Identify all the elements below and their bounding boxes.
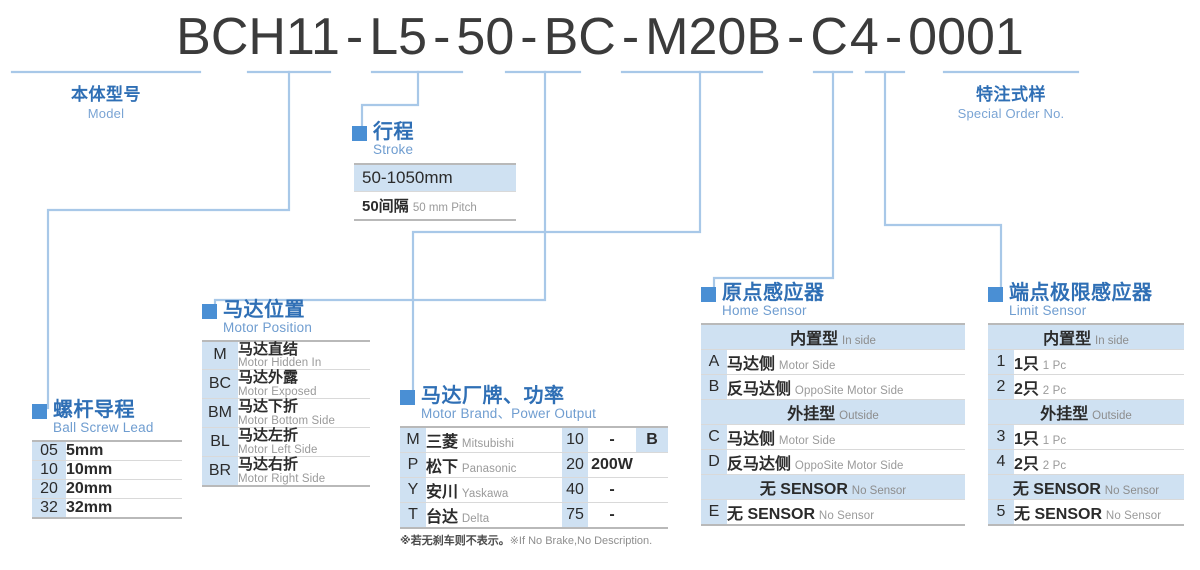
code-dash-3: - [515, 7, 542, 67]
group-motor-brand-title-cn: 马达厂牌、功率 [421, 386, 596, 406]
home-sensor-band-cell: 外挂型 Outside [701, 399, 965, 424]
motor-brand-en: Delta [462, 513, 489, 525]
motor-brake-cell [636, 502, 668, 528]
home-sensor-desc-cell: 无 SENSOR No Sensor [727, 499, 965, 525]
motor-position-desc-cell: 马达外露Motor Exposed [238, 370, 370, 399]
code-part-model: BCH11 [175, 7, 341, 67]
table-row: BR马达右折Motor Right Side [202, 456, 370, 485]
home-sensor-cn: 无 SENSOR [727, 506, 815, 523]
limit-sensor-code-cell: 3 [988, 424, 1014, 449]
motor-brand-en: Panasonic [462, 463, 517, 475]
group-home-sensor: 原点感应器 Home Sensor 内置型 In sideA马达侧 Motor … [701, 283, 965, 526]
code-dash-1: - [341, 7, 368, 67]
table-band-row: 外挂型 Outside [988, 399, 1184, 424]
home-sensor-desc-cell: 反马达侧 OppoSite Motor Side [727, 449, 965, 474]
lead-value-text: 20mm [66, 480, 112, 497]
motor-brake-cell [636, 452, 668, 477]
table-row: 055mm [32, 441, 182, 461]
home-sensor-band-en: Outside [839, 410, 879, 422]
group-model-title-cn: 本体型号 [12, 80, 200, 105]
code-part-limit-sensor: 4 [849, 7, 880, 67]
home-sensor-cn: 马达侧 [727, 431, 775, 448]
table-row: BM马达下折Motor Bottom Side [202, 399, 370, 428]
group-motor-position-title-en: Motor Position [223, 321, 312, 335]
limit-sensor-code-cell: 2 [988, 374, 1014, 399]
home-sensor-band-en: No Sensor [852, 485, 906, 497]
limit-sensor-desc-cell: 无 SENSOR No Sensor [1014, 499, 1184, 525]
table-row: D反马达侧 OppoSite Motor Side [701, 449, 965, 474]
motor-power-value-text: 200W [591, 456, 633, 473]
table-row: M马达直结Motor Hidden In [202, 341, 370, 370]
home-sensor-en: Motor Side [779, 435, 836, 447]
table-row: Y安川 Yaskawa40- [400, 477, 668, 502]
home-sensor-band-cn: 外挂型 [787, 406, 835, 423]
motor-brake-text [650, 481, 654, 498]
code-dash-6: - [880, 7, 907, 67]
motor-brand-en: Mitsubishi [462, 438, 514, 450]
table-row: E无 SENSOR No Sensor [701, 499, 965, 525]
motor-position-desc-cell: 马达右折Motor Right Side [238, 456, 370, 485]
stroke-pitch-cn: 50间隔 [362, 198, 409, 215]
limit-sensor-band-cn: 内置型 [1043, 331, 1091, 348]
home-sensor-table: 内置型 In sideA马达侧 Motor SideB反马达侧 OppoSite… [701, 323, 965, 526]
lead-code-cell: 10 [32, 460, 66, 479]
limit-sensor-cn: 无 SENSOR [1014, 506, 1102, 523]
home-sensor-band-en: In side [842, 335, 876, 347]
motor-position-en: Motor Exposed [238, 386, 370, 398]
motor-position-cn: 马达直结 [238, 342, 370, 358]
table-band-row: 内置型 In side [701, 324, 965, 350]
stroke-range-cell: 50-1050mm [354, 163, 516, 192]
ball-screw-lead-table: 055mm1010mm2020mm3232mm [32, 440, 182, 519]
table-row: M三菱 Mitsubishi10-B [400, 427, 668, 453]
home-sensor-cn: 反马达侧 [727, 456, 791, 473]
motor-position-cn: 马达下折 [238, 399, 370, 415]
table-row: 3232mm [32, 498, 182, 518]
group-home-sensor-title-en: Home Sensor [722, 304, 825, 318]
limit-sensor-cn: 1只 [1014, 431, 1039, 448]
limit-sensor-desc-cell: 2只 2 Pc [1014, 449, 1184, 474]
group-model: 本体型号 Model [12, 80, 200, 121]
motor-power-value-text: - [609, 506, 614, 523]
motor-power-value-text: - [609, 431, 614, 448]
limit-sensor-en: 1 Pc [1043, 360, 1066, 372]
table-band-row: 外挂型 Outside [701, 399, 965, 424]
motor-brand-power-table: M三菱 Mitsubishi10-BP松下 Panasonic20200W Y安… [400, 426, 668, 529]
home-sensor-code-cell: E [701, 499, 727, 525]
motor-brand-cn: 松下 [426, 459, 458, 476]
limit-sensor-cn: 2只 [1014, 381, 1039, 398]
bullet-square-icon [988, 287, 1003, 302]
table-row: 5无 SENSOR No Sensor [988, 499, 1184, 525]
motor-power-value-cell: - [588, 502, 636, 528]
limit-sensor-en: 2 Pc [1043, 460, 1066, 472]
motor-brand-name-cell: 松下 Panasonic [426, 452, 562, 477]
table-band-row: 无 SENSOR No Sensor [988, 474, 1184, 499]
lead-code-cell: 20 [32, 479, 66, 498]
motor-position-en: Motor Bottom Side [238, 415, 370, 427]
group-limit-sensor-title-cn: 端点极限感应器 [1009, 283, 1153, 303]
motor-power-value-cell: - [588, 427, 636, 453]
table-row: B反马达侧 OppoSite Motor Side [701, 374, 965, 399]
table-row: BL马达左折Motor Left Side [202, 427, 370, 456]
group-special-order: 特注式样 Special Order No. [944, 80, 1078, 121]
bullet-square-icon [202, 304, 217, 319]
code-part-motor-brand: M20B [644, 7, 782, 67]
motor-brake-text [650, 456, 654, 473]
motor-brand-note-en: ※If No Brake,No Description. [510, 535, 653, 547]
stroke-pitch-cell: 50间隔 50 mm Pitch [354, 192, 516, 221]
group-stroke-title-cn: 行程 [373, 122, 414, 142]
limit-sensor-en: 2 Pc [1043, 385, 1066, 397]
motor-brand-cn: 安川 [426, 484, 458, 501]
code-part-stroke: 50 [455, 7, 515, 67]
table-row: 2020mm [32, 479, 182, 498]
lead-value-text: 10mm [66, 461, 112, 478]
home-sensor-code-cell: A [701, 349, 727, 374]
stroke-pitch-en: 50 mm Pitch [413, 202, 477, 214]
home-sensor-en: No Sensor [819, 510, 874, 522]
lead-value-cell: 32mm [66, 498, 182, 518]
table-row: 42只 2 Pc [988, 449, 1184, 474]
home-sensor-en: OppoSite Motor Side [795, 385, 904, 397]
group-motor-position: 马达位置 Motor Position M马达直结Motor Hidden In… [202, 300, 370, 487]
limit-sensor-band-en: No Sensor [1105, 485, 1159, 497]
limit-sensor-cn: 2只 [1014, 456, 1039, 473]
motor-brand-code-cell: T [400, 502, 426, 528]
motor-brand-name-cell: 三菱 Mitsubishi [426, 427, 562, 453]
motor-brand-cn: 台达 [426, 509, 458, 526]
motor-position-cn: 马达右折 [238, 457, 370, 473]
motor-brand-note: ※若无刹车则不表示。※If No Brake,No Description. [400, 532, 668, 548]
lead-value-cell: 10mm [66, 460, 182, 479]
code-dash-5: - [782, 7, 809, 67]
group-model-title-en: Model [12, 106, 200, 121]
motor-position-code-cell: BM [202, 399, 238, 428]
group-motor-brand-power: 马达厂牌、功率 Motor Brand、Power Output M三菱 Mit… [400, 386, 668, 548]
home-sensor-cn: 反马达侧 [727, 381, 791, 398]
group-limit-sensor-title-en: Limit Sensor [1009, 304, 1153, 318]
limit-sensor-code-cell: 4 [988, 449, 1014, 474]
motor-brand-code-cell: P [400, 452, 426, 477]
table-row: T台达 Delta75- [400, 502, 668, 528]
motor-power-code-cell: 10 [562, 427, 588, 453]
limit-sensor-band-cn: 外挂型 [1040, 406, 1088, 423]
motor-position-desc-cell: 马达左折Motor Left Side [238, 427, 370, 456]
motor-position-table: M马达直结Motor Hidden InBC马达外露Motor ExposedB… [202, 340, 370, 487]
bullet-square-icon [32, 404, 47, 419]
group-ball-screw-lead: 螺杆导程 Ball Screw Lead 055mm1010mm2020mm32… [32, 400, 182, 519]
group-motor-brand-title-en: Motor Brand、Power Output [421, 407, 596, 421]
motor-brand-cn: 三菱 [426, 434, 458, 451]
group-limit-sensor: 端点极限感应器 Limit Sensor 内置型 In side11只 1 Pc… [988, 283, 1184, 526]
home-sensor-desc-cell: 反马达侧 OppoSite Motor Side [727, 374, 965, 399]
group-stroke: 行程 Stroke 50-1050mm 50间隔 50 mm Pitch [352, 122, 532, 221]
motor-power-code-cell: 40 [562, 477, 588, 502]
limit-sensor-desc-cell: 1只 1 Pc [1014, 424, 1184, 449]
limit-sensor-band-cell: 外挂型 Outside [988, 399, 1184, 424]
bullet-square-icon [701, 287, 716, 302]
lead-code-cell: 05 [32, 441, 66, 461]
motor-brand-name-cell: 安川 Yaskawa [426, 477, 562, 502]
home-sensor-band-cell: 无 SENSOR No Sensor [701, 474, 965, 499]
home-sensor-desc-cell: 马达侧 Motor Side [727, 424, 965, 449]
limit-sensor-desc-cell: 1只 1 Pc [1014, 349, 1184, 374]
lead-value-text: 5mm [66, 442, 103, 459]
code-part-home-sensor: C [809, 7, 849, 67]
table-row: 22只 2 Pc [988, 374, 1184, 399]
motor-brand-en: Yaskawa [462, 488, 509, 500]
home-sensor-band-cn: 无 SENSOR [760, 481, 848, 498]
motor-position-code-cell: M [202, 341, 238, 370]
stroke-table: 50-1050mm 50间隔 50 mm Pitch [354, 163, 516, 221]
motor-power-value-text: - [609, 481, 614, 498]
home-sensor-desc-cell: 马达侧 Motor Side [727, 349, 965, 374]
home-sensor-en: OppoSite Motor Side [795, 460, 904, 472]
code-part-special: 0001 [907, 7, 1025, 67]
home-sensor-cn: 马达侧 [727, 356, 775, 373]
motor-power-code-cell: 75 [562, 502, 588, 528]
group-home-sensor-title-cn: 原点感应器 [722, 283, 825, 303]
group-stroke-title-en: Stroke [373, 143, 414, 157]
motor-brand-code-cell: Y [400, 477, 426, 502]
table-row: A马达侧 Motor Side [701, 349, 965, 374]
home-sensor-band-cell: 内置型 In side [701, 324, 965, 350]
motor-position-cn: 马达外露 [238, 370, 370, 386]
product-code-diagram: BCH11 - L5 - 50 - BC - M20B - C 4 - 0001 [0, 0, 1200, 570]
table-row: 1010mm [32, 460, 182, 479]
table-row: 11只 1 Pc [988, 349, 1184, 374]
motor-brake-cell [636, 477, 668, 502]
limit-sensor-code-cell: 5 [988, 499, 1014, 525]
group-motor-position-title-cn: 马达位置 [223, 300, 312, 320]
code-dash-4: - [617, 7, 644, 67]
table-band-row: 内置型 In side [988, 324, 1184, 350]
motor-brake-text [650, 506, 654, 523]
home-sensor-band-cn: 内置型 [790, 331, 838, 348]
motor-position-en: Motor Left Side [238, 444, 370, 456]
group-lead-title-cn: 螺杆导程 [53, 400, 154, 420]
limit-sensor-en: 1 Pc [1043, 435, 1066, 447]
motor-brand-name-cell: 台达 Delta [426, 502, 562, 528]
lead-value-cell: 20mm [66, 479, 182, 498]
code-part-motor-pos: BC [543, 7, 617, 67]
limit-sensor-desc-cell: 2只 2 Pc [1014, 374, 1184, 399]
limit-sensor-band-en: Outside [1092, 410, 1132, 422]
motor-brake-text: B [646, 431, 658, 448]
home-sensor-en: Motor Side [779, 360, 836, 372]
home-sensor-code-cell: C [701, 424, 727, 449]
table-row: 31只 1 Pc [988, 424, 1184, 449]
table-band-row: 无 SENSOR No Sensor [701, 474, 965, 499]
motor-position-desc-cell: 马达下折Motor Bottom Side [238, 399, 370, 428]
limit-sensor-band-cell: 无 SENSOR No Sensor [988, 474, 1184, 499]
motor-position-desc-cell: 马达直结Motor Hidden In [238, 341, 370, 370]
lead-value-text: 32mm [66, 499, 112, 516]
motor-brand-code-cell: M [400, 427, 426, 453]
home-sensor-code-cell: B [701, 374, 727, 399]
motor-power-value-cell: 200W [588, 452, 636, 477]
limit-sensor-cn: 1只 [1014, 356, 1039, 373]
motor-power-value-cell: - [588, 477, 636, 502]
group-special-order-title-cn: 特注式样 [944, 80, 1078, 105]
limit-sensor-en: No Sensor [1106, 510, 1161, 522]
limit-sensor-band-en: In side [1095, 335, 1129, 347]
table-row: BC马达外露Motor Exposed [202, 370, 370, 399]
limit-sensor-table: 内置型 In side11只 1 Pc22只 2 Pc外挂型 Outside31… [988, 323, 1184, 526]
code-part-lead: L5 [368, 7, 428, 67]
motor-position-en: Motor Hidden In [238, 357, 370, 369]
table-row: C马达侧 Motor Side [701, 424, 965, 449]
motor-brake-cell: B [636, 427, 668, 453]
motor-position-code-cell: BC [202, 370, 238, 399]
product-code-string: BCH11 - L5 - 50 - BC - M20B - C 4 - 0001 [0, 6, 1200, 68]
code-dash-2: - [428, 7, 455, 67]
motor-position-cn: 马达左折 [238, 428, 370, 444]
limit-sensor-band-cn: 无 SENSOR [1013, 481, 1101, 498]
bullet-square-icon [352, 126, 367, 141]
bullet-square-icon [400, 390, 415, 405]
motor-position-code-cell: BL [202, 427, 238, 456]
lead-value-cell: 5mm [66, 441, 182, 461]
limit-sensor-band-cell: 内置型 In side [988, 324, 1184, 350]
group-special-order-title-en: Special Order No. [944, 106, 1078, 121]
motor-position-en: Motor Right Side [238, 473, 370, 485]
group-lead-title-en: Ball Screw Lead [53, 421, 154, 435]
motor-power-code-cell: 20 [562, 452, 588, 477]
motor-position-code-cell: BR [202, 456, 238, 485]
limit-sensor-code-cell: 1 [988, 349, 1014, 374]
lead-code-cell: 32 [32, 498, 66, 518]
motor-brand-note-cn: ※若无刹车则不表示。 [400, 535, 510, 547]
table-row: P松下 Panasonic20200W [400, 452, 668, 477]
home-sensor-code-cell: D [701, 449, 727, 474]
